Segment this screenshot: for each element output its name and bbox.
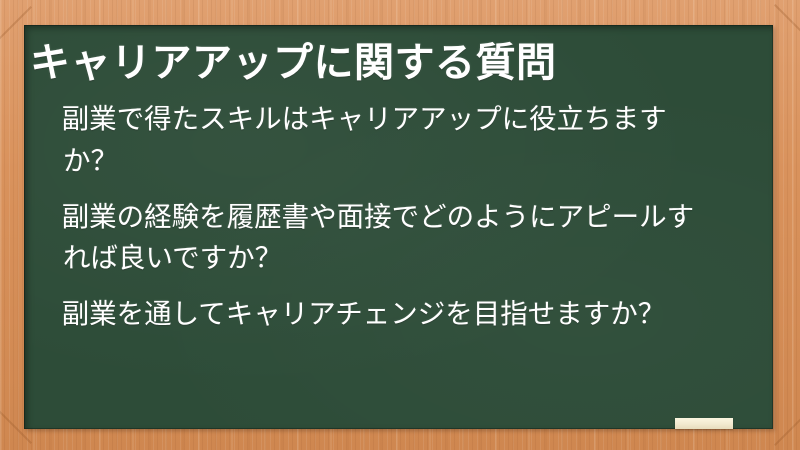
chalk-stick-icon [675, 418, 733, 429]
list-item: 副業で得たスキルはキャリアアップに役立ちますか？ [63, 99, 715, 183]
list-item: 副業の経験を履歴書や面接でどのようにアピールすれば良いですか？ [63, 197, 715, 281]
list-item: 副業を通してキャリアチェンジを目指せますか？ [63, 294, 715, 336]
chalkboard: キャリアアップに関する質問 副業で得たスキルはキャリアアップに役立ちますか？ 副… [24, 25, 773, 429]
frame-mitre-top-right-icon [774, 4, 800, 38]
chalkboard-content: キャリアアップに関する質問 副業で得たスキルはキャリアアップに役立ちますか？ 副… [24, 25, 773, 429]
page-title: キャリアアップに関する質問 [30, 43, 753, 83]
frame-mitre-bottom-right-icon [774, 412, 800, 446]
question-list: 副業で得たスキルはキャリアアップに役立ちますか？ 副業の経験を履歴書や面接でどの… [27, 99, 753, 336]
slide-screen: キャリアアップに関する質問 副業で得たスキルはキャリアアップに役立ちますか？ 副… [0, 0, 800, 450]
